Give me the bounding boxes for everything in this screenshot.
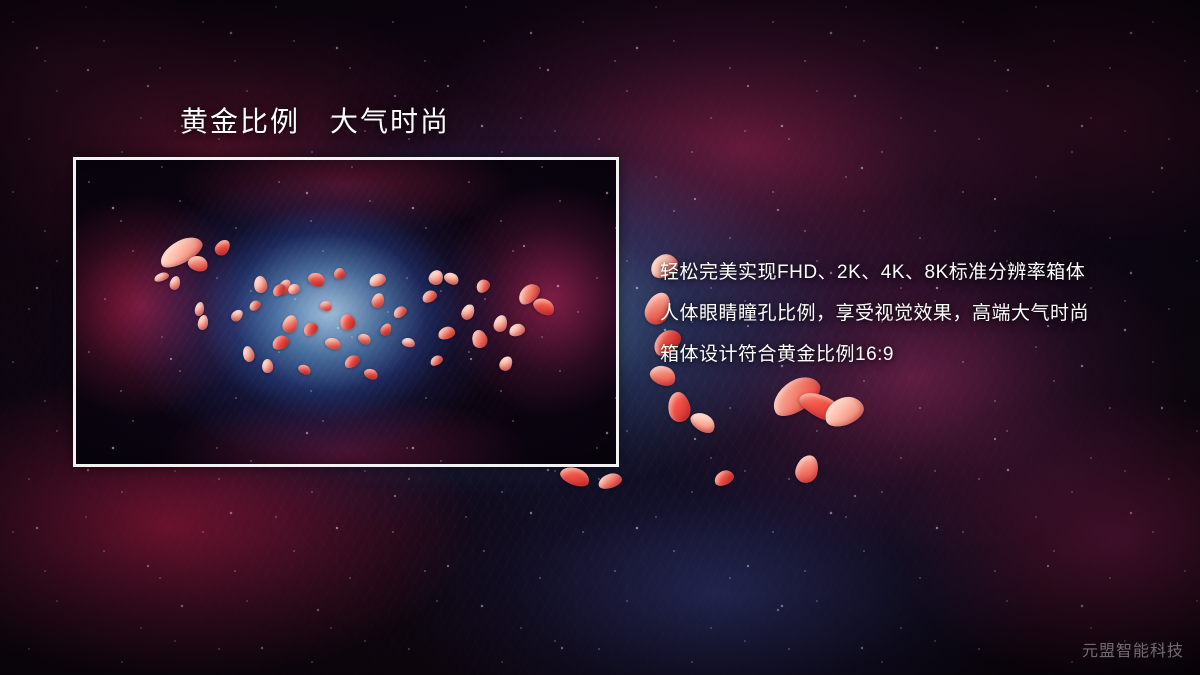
slide-title: 黄金比例 大气时尚 <box>180 100 450 140</box>
bg-petal-5 <box>687 408 718 437</box>
watermark: 元盟智能科技 <box>1082 637 1184 661</box>
bg-petal-9 <box>793 453 821 485</box>
bg-petal-4 <box>665 390 693 424</box>
body-line-3: 箱体设计符合黄金比例16:9 <box>660 334 1160 375</box>
framed-image-panel <box>73 157 619 467</box>
petal-20 <box>334 268 345 279</box>
bg-petal-10 <box>712 468 736 488</box>
body-line-1: 轻松完美实现FHD、2K、4K、8K标准分辨率箱体 <box>660 252 1160 293</box>
presentation-slide: 黄金比例 大气时尚 轻松完美实现FHD、2K、4K、8K标准分辨率箱体 人体眼睛… <box>0 0 1200 675</box>
panel-nebula-filaments <box>76 160 616 464</box>
body-text-block: 轻松完美实现FHD、2K、4K、8K标准分辨率箱体 人体眼睛瞳孔比例，享受视觉效… <box>660 252 1160 375</box>
body-line-2: 人体眼睛瞳孔比例，享受视觉效果，高端大气时尚 <box>660 293 1160 334</box>
bg-petal-11 <box>558 463 592 490</box>
panel-image <box>76 160 616 464</box>
bg-petal-12 <box>597 471 624 491</box>
